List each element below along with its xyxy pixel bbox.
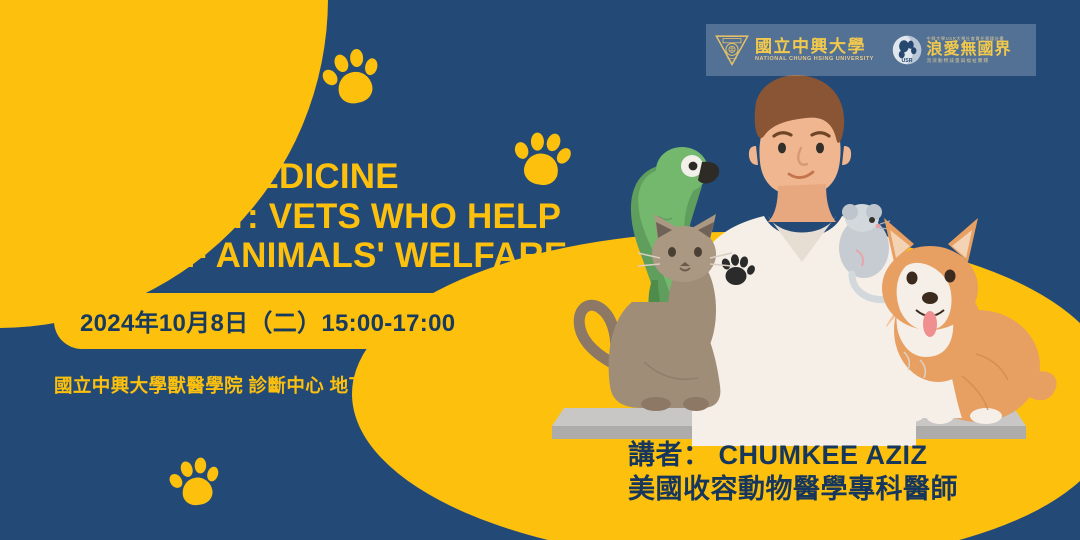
- speaker-block: 講者： CHUMKEE AZIZ 美國收容動物醫學專科醫師: [628, 440, 958, 506]
- venue-text: 國立中興大學獸醫學院 診斷中心 地下樓B1101大講堂: [54, 372, 574, 398]
- date-time-badge: 2024年10月8日（二）15:00-17:00: [54, 293, 481, 349]
- paw-toe: [179, 460, 195, 479]
- partner-logo: USR 中興大學USR大學社會責任實踐計畫 浪愛無國界 流浪動物減量與福祉實踐: [892, 35, 1012, 65]
- university-logo: 國立中興大學 NATIONAL CHUNG HSING UNIVERSITY: [714, 33, 872, 67]
- paw-toe: [350, 49, 364, 67]
- partner-name-cn: 浪愛無國界: [927, 41, 1012, 59]
- headline-block: 動物福利學專題演講 SHELTER MEDICINE SPECIALTY: VE…: [54, 122, 574, 398]
- kicker-text: 動物福利學專題演講: [54, 122, 574, 148]
- page-title: SHELTER MEDICINE SPECIALTY: VETS WHO HEL…: [54, 157, 574, 276]
- sponsor-logo-bar: 國立中興大學 NATIONAL CHUNG HSING UNIVERSITY U…: [706, 24, 1036, 76]
- corgi-dog-icon: [876, 218, 1057, 424]
- paw-globe-icon: USR: [892, 35, 922, 65]
- paw-toe: [194, 457, 206, 473]
- nchu-triangle-crest-icon: [714, 33, 750, 67]
- speaker-name: 講者： CHUMKEE AZIZ: [628, 440, 958, 472]
- paw-toe: [205, 465, 220, 482]
- speaker-role: 美國收容動物醫學專科醫師: [628, 474, 958, 506]
- paw-toe: [332, 53, 351, 75]
- paw-print-icon: [316, 40, 391, 114]
- university-name-cn: 國立中興大學: [755, 38, 872, 56]
- university-name-en: NATIONAL CHUNG HSING UNIVERSITY: [755, 56, 874, 62]
- gray-cat-icon: [579, 214, 732, 411]
- partner-tagline-bottom: 流浪動物減量與福祉實踐: [927, 59, 1012, 64]
- paw-toe: [363, 57, 379, 76]
- veterinarian-illustration: [506, 66, 1080, 466]
- paw-print-icon: [165, 452, 220, 506]
- svg-text:USR: USR: [901, 58, 912, 64]
- poster-canvas: 國立中興大學 NATIONAL CHUNG HSING UNIVERSITY U…: [0, 0, 1080, 540]
